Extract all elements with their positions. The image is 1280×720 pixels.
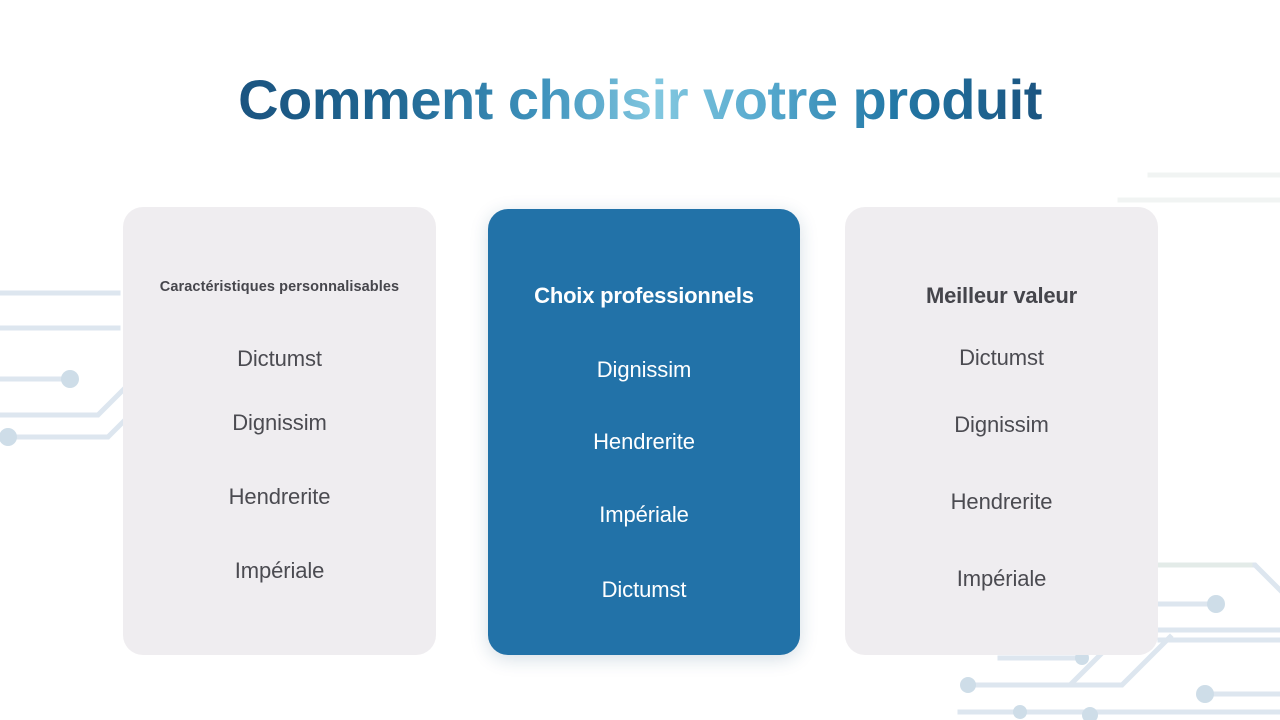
card-item: Dictumst: [123, 346, 436, 372]
card-item: Dictumst: [488, 577, 800, 603]
card-title-customizable-features: Caractéristiques personnalisables: [123, 279, 436, 295]
page-title-container: Comment choisir votre produit: [0, 0, 1280, 200]
card-item-list-professional-choice: Dignissim Hendrerite Impériale Dictumst: [488, 357, 800, 651]
card-item: Impériale: [845, 566, 1158, 592]
card-item: Impériale: [488, 502, 800, 528]
card-professional-choice[interactable]: Choix professionnels Dignissim Hendrerit…: [488, 209, 800, 655]
card-item: Dignissim: [845, 412, 1158, 438]
card-item-list-best-value: Dictumst Dignissim Hendrerite Impériale: [845, 345, 1158, 640]
card-item: Hendrerite: [845, 489, 1158, 515]
card-item: Dignissim: [488, 357, 800, 383]
card-item: Hendrerite: [123, 484, 436, 510]
card-best-value[interactable]: Meilleur valeur Dictumst Dignissim Hendr…: [845, 207, 1158, 655]
card-item-list-customizable-features: Dictumst Dignissim Hendrerite Impériale: [123, 346, 436, 632]
card-item: Dignissim: [123, 410, 436, 436]
card-customizable-features[interactable]: Caractéristiques personnalisables Dictum…: [123, 207, 436, 655]
card-item: Dictumst: [845, 345, 1158, 371]
card-title-best-value: Meilleur valeur: [845, 283, 1158, 309]
card-item: Hendrerite: [488, 429, 800, 455]
card-title-professional-choice: Choix professionnels: [488, 283, 800, 309]
page-title: Comment choisir votre produit: [238, 72, 1042, 128]
card-item: Impériale: [123, 558, 436, 584]
